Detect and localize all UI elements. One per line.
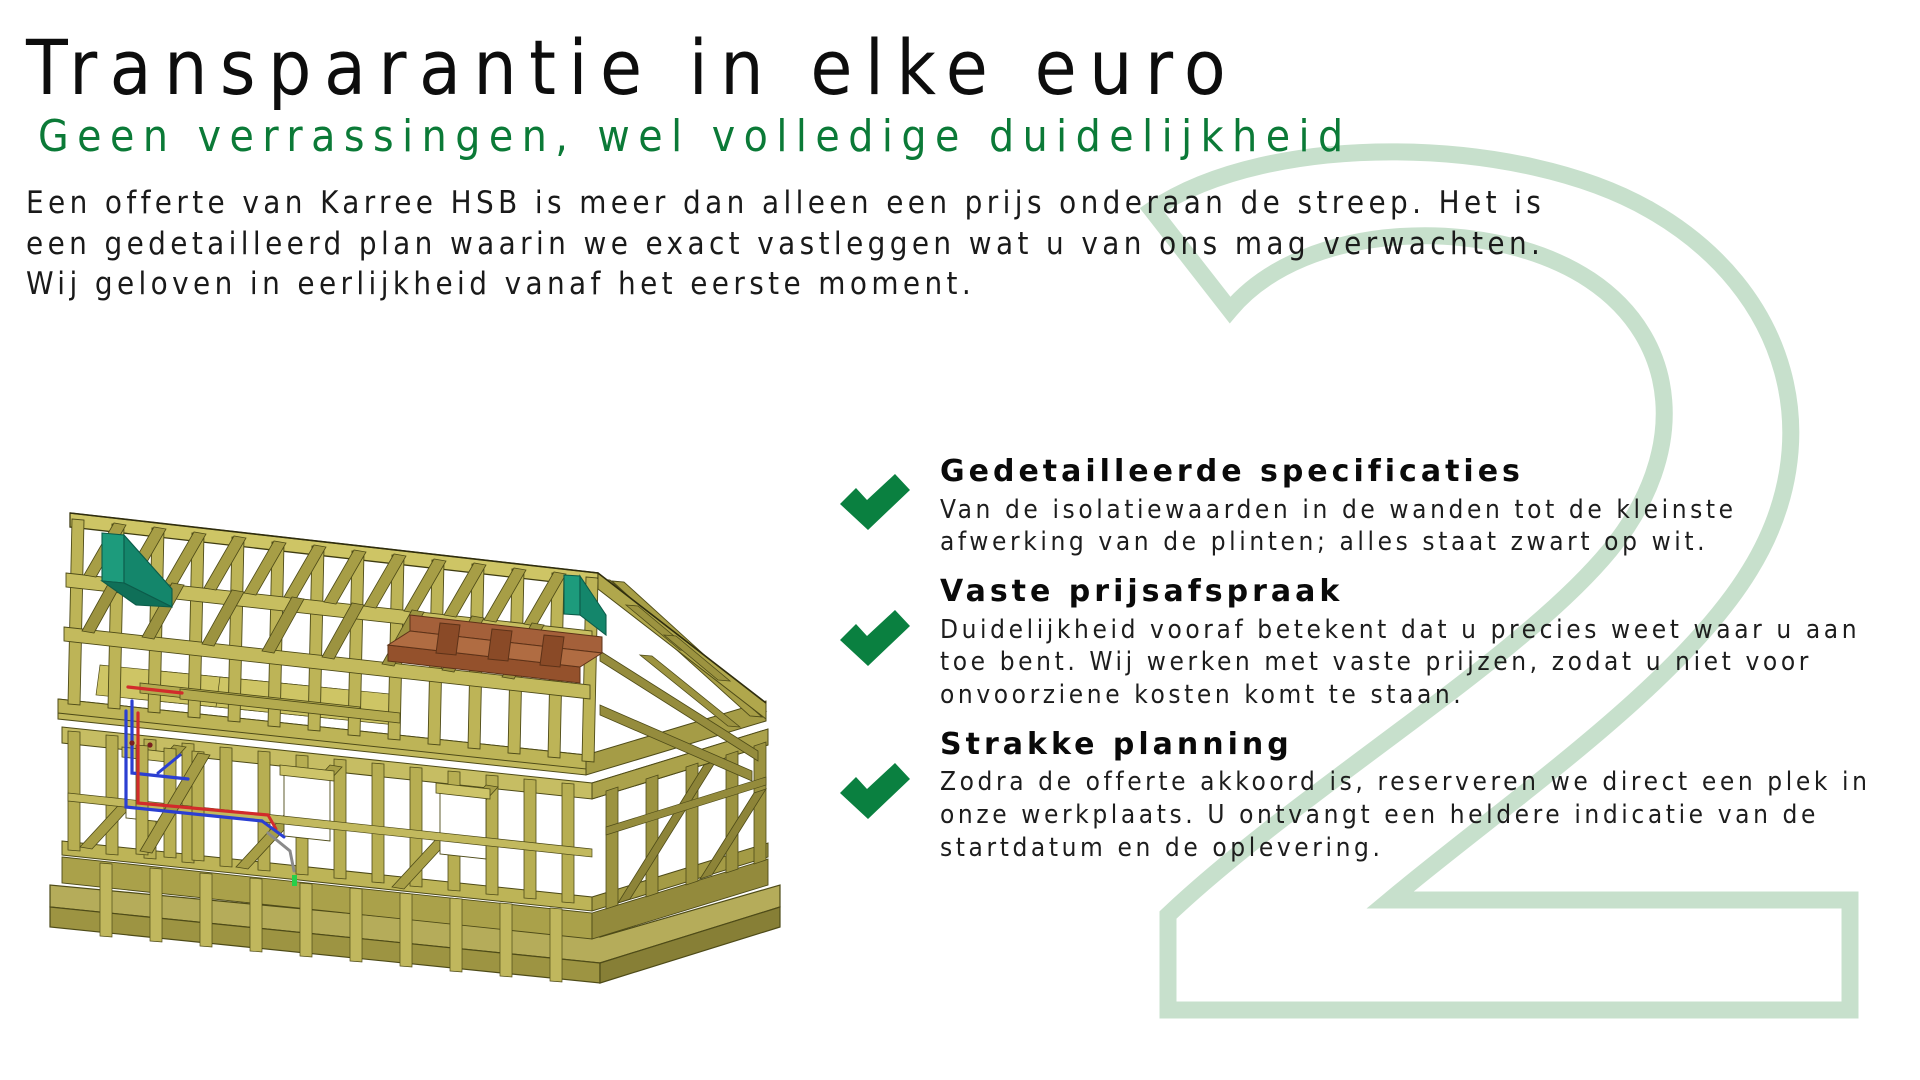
page-header: Transparantie in elke euro Geen verrassi… [0, 0, 1920, 304]
illustration-pane [0, 455, 810, 1080]
feature-title: Gedetailleerde specificaties [940, 455, 1880, 490]
feature-item: Strakke planning Zodra de offerte akkoor… [810, 728, 1920, 865]
feature-body: Vaste prijsafspraak Duidelijkheid vooraf… [940, 575, 1920, 712]
feature-item: Vaste prijsafspraak Duidelijkheid vooraf… [810, 575, 1920, 712]
feature-title: Strakke planning [940, 728, 1880, 763]
page-subtitle: Geen verrassingen, wel volledige duideli… [0, 107, 1920, 161]
feature-list: Gedetailleerde specificaties Van de isol… [810, 455, 1920, 865]
feature-item: Gedetailleerde specificaties Van de isol… [810, 455, 1920, 559]
feature-body: Gedetailleerde specificaties Van de isol… [940, 455, 1920, 559]
feature-description: Van de isolatiewaarden in de wanden tot … [940, 494, 1880, 560]
check-cell [810, 763, 940, 829]
checkmark-icon [840, 610, 910, 676]
feature-description: Duidelijkheid vooraf betekent dat u prec… [940, 614, 1880, 712]
check-cell [810, 610, 940, 676]
check-cell [810, 474, 940, 540]
feature-description: Zodra de offerte akkoord is, reserveren … [940, 766, 1880, 864]
page-title: Transparantie in elke euro [0, 0, 1920, 107]
feature-title: Vaste prijsafspraak [940, 575, 1880, 610]
checkmark-icon [840, 763, 910, 829]
checkmark-icon [840, 474, 910, 540]
main-content: Gedetailleerde specificaties Van de isol… [0, 455, 1920, 1080]
timber-frame-house-image [40, 455, 800, 1055]
feature-body: Strakke planning Zodra de offerte akkoor… [940, 728, 1920, 865]
intro-paragraph: Een offerte van Karree HSB is meer dan a… [0, 161, 1646, 304]
